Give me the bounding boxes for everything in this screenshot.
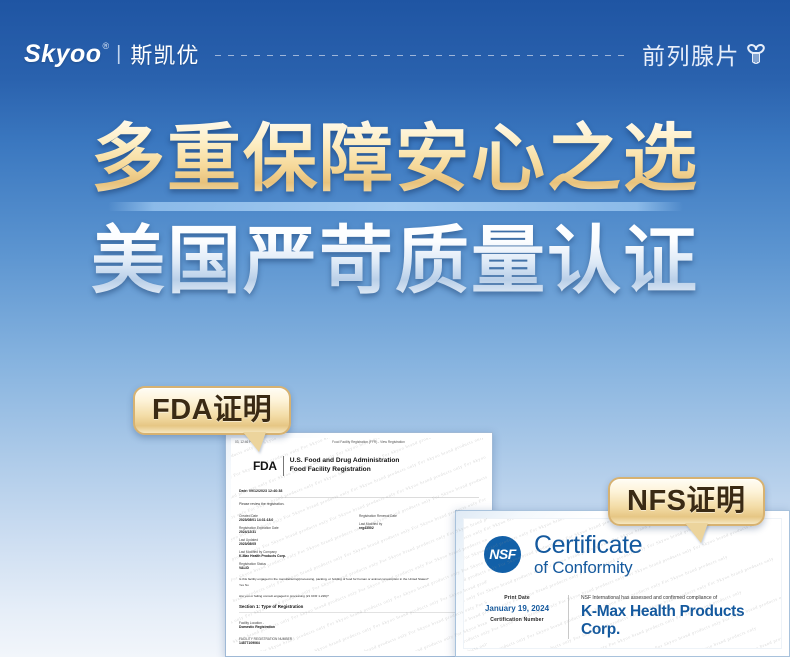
nsf-certification-number-label: Certification Number [478,617,556,623]
fda-question-2: Are you or failing consult engaged in pr… [239,594,479,598]
nsf-certificate-sheet: NSF Certificate of Conformity Print Date… [463,518,782,649]
nsf-header-block: NSF Certificate of Conformity [464,519,781,577]
fda-facility-location-value: Domestic Registration [239,625,479,629]
hero-title-secondary: 美国严苛质量认证 [91,220,699,303]
fda-facility-number-row: FACILITY REGISTRATION NUMBER 14877109064 [239,633,479,645]
watermark-line: For Skyoo brand products only For Skyoo … [463,643,782,649]
brand-name-chinese: 斯凯优 [130,38,199,70]
nsf-print-info: Print Date January 19, 2024 Certificatio… [478,595,556,639]
nsf-print-date-value: January 19, 2024 [478,604,556,613]
fda-facility-number: FACILITY REGISTRATION NUMBER 14877109064 [239,633,479,645]
fda-agency-titles: U.S. Food and Drug Administration Food F… [290,457,400,475]
watermark-line: For Skyoo brand products only For Skyoo … [243,650,487,651]
badge-fda-label: FDA证明 [152,395,272,425]
badge-nfs-tail [685,523,708,543]
brand-name-latin: Skyoo [24,40,102,69]
prostate-anatomy-icon [744,37,768,72]
nsf-company-block: NSF International has assessed and confi… [581,595,781,639]
fda-field-value: 2023/08/01 14:31:18.0 [239,518,359,522]
fda-field-value: VALID [239,566,359,570]
fda-field-value: 2023/08/05 [239,542,359,546]
nsf-logo-icon: NSF [484,536,521,573]
promo-page: Skyoo ® | 斯凯优 前列腺片 多重保障安心之选 美国严苛质量认证 [0,0,790,657]
badge-fda-certificate: FDA证明 [133,386,291,435]
fda-field-value: K-Max Health Products Corp. [239,554,359,558]
registered-trademark-icon: ® [103,41,110,51]
fda-logo: FDA [253,459,277,473]
badge-nfs-certificate: NFS证明 [608,477,765,526]
nsf-title-line2: of Conformity [534,559,642,577]
hero-title-underline [108,202,683,211]
nsf-certificate-document: NSF Certificate of Conformity Print Date… [455,510,790,657]
watermark-line: For Skyoo brand products only For Skyoo … [231,438,487,521]
product-label: 前列腺片 [642,37,740,71]
fda-certificate-document: 03, 12:46 PM Food Facility Registration … [225,432,493,657]
fda-review-note: Please review the registration. [239,502,487,506]
brand-separator: | [116,43,121,66]
fda-question-1: Is this facility engaged in the manufact… [239,577,479,581]
brand-lockup: Skyoo ® | 斯凯优 [24,38,199,70]
fda-section-rule [239,612,479,613]
fda-header-block: FDA U.S. Food and Drug Administration Fo… [253,456,487,476]
nsf-assessed-text: NSF International has assessed and confi… [581,595,781,601]
nsf-print-date-label: Print Date [478,595,556,601]
fda-facility-number-value: 14877109064 [239,641,479,645]
fda-fields-columns: Created Date 2023/08/01 14:31:18.0 Regis… [239,510,479,570]
fda-rule [239,497,479,498]
nsf-titles: Certificate of Conformity [534,532,642,577]
page-header: Skyoo ® | 斯凯优 前列腺片 [0,0,790,108]
fda-facility-row: Facility Location - Domestic Registratio… [239,617,479,629]
fda-question-1-options[interactable]: Yes No [239,583,479,587]
fda-agency-line2: Food Facility Registration [290,466,400,475]
nsf-title-line1: Certificate [534,532,642,558]
nsf-logo-text: NSF [489,546,516,562]
fda-page-title: Food Facility Registration (FFR) - View … [332,440,405,444]
fda-field-value: 2024/12/31 [239,530,359,534]
product-label-group: 前列腺片 [642,37,768,72]
badge-fda-tail [243,432,266,452]
fda-fields-left: Created Date 2023/08/01 14:31:18.0 Regis… [239,510,359,570]
nsf-vertical-divider [568,595,569,639]
hero-title-primary: 多重保障安心之选 [91,118,699,201]
fda-date-line: Date: 09/12/2023 12:46:38 [239,489,487,493]
fda-browser-bar: 03, 12:46 PM Food Facility Registration … [231,438,487,444]
hero-title-block: 多重保障安心之选 美国严苛质量认证 [0,118,790,303]
fda-divider [283,456,284,476]
nsf-company-name: K-Max Health Products Corp. [581,603,781,639]
fda-certificate-sheet: 03, 12:46 PM Food Facility Registration … [231,438,487,651]
header-dashed-divider [215,55,626,56]
fda-facility-location: Facility Location - Domestic Registratio… [239,617,479,629]
nsf-body: Print Date January 19, 2024 Certificatio… [464,595,781,639]
fda-section-title: Section 1: Type of Registration [239,604,479,609]
badge-nfs-label: NFS证明 [627,486,746,516]
fda-agency-line1: U.S. Food and Drug Administration [290,457,400,466]
